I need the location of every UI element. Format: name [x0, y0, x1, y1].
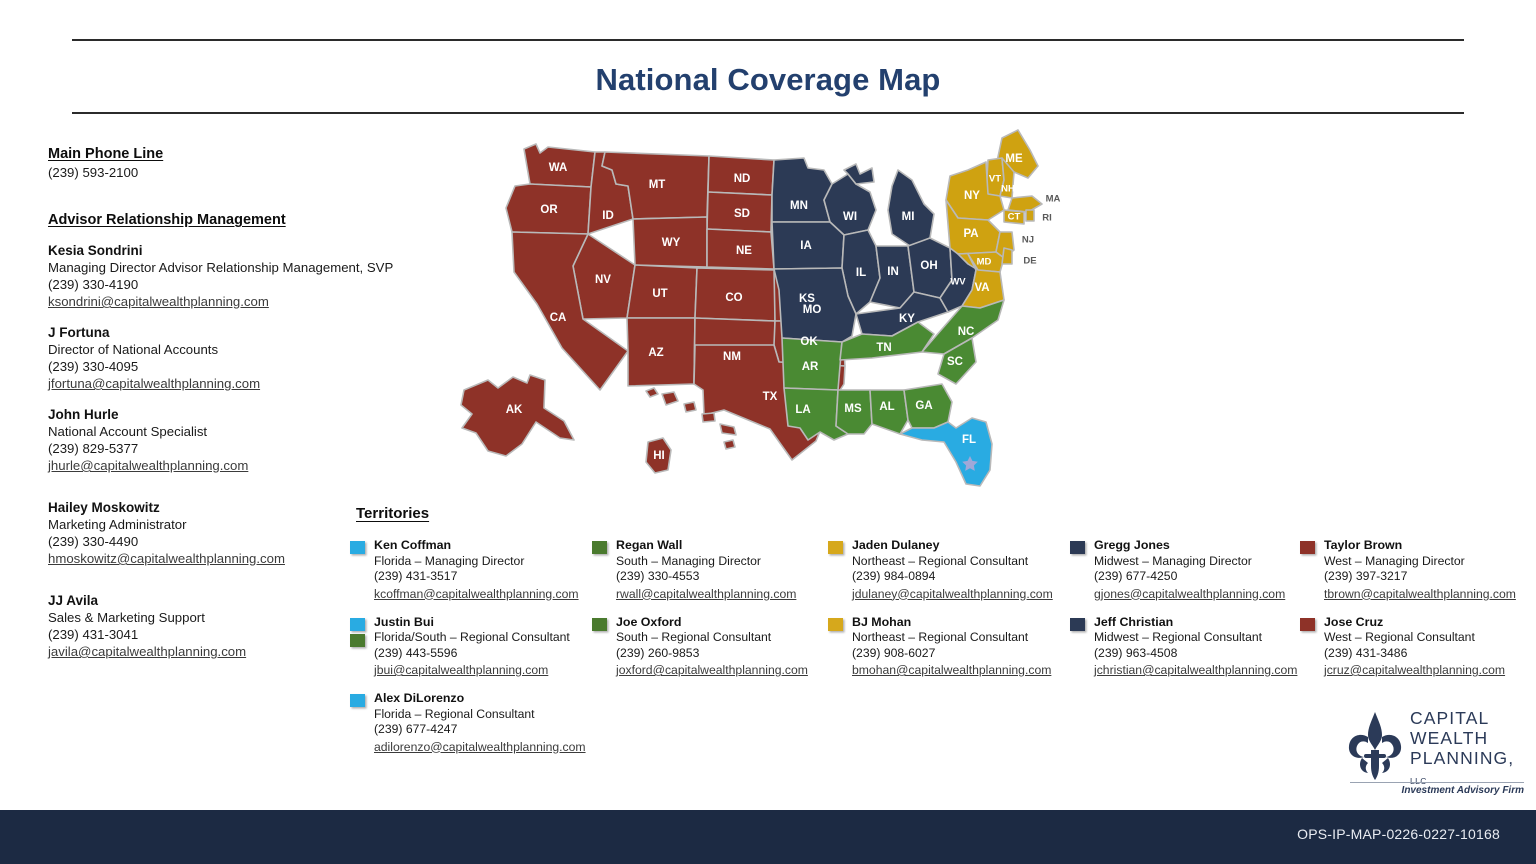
contact-role: Director of National Accounts: [48, 341, 448, 358]
label-MT: MT: [649, 179, 666, 191]
legend-name: Gregg Jones: [1094, 538, 1320, 554]
main-phone-block: Main Phone Line (239) 593-2100: [48, 146, 448, 181]
legend-role: West – Managing Director: [1324, 554, 1536, 570]
label-NC: NC: [958, 326, 975, 338]
legend-item[interactable]: Jaden Dulaney Northeast – Regional Consu…: [828, 538, 1068, 603]
arm-heading: Advisor Relationship Management: [48, 212, 448, 228]
color-swatch: [592, 541, 607, 554]
legend-item[interactable]: Jose Cruz West – Regional Consultant (23…: [1300, 615, 1536, 680]
contact-phone: (239) 829-5377: [48, 440, 448, 457]
color-swatch: [592, 618, 607, 631]
label-VT: VT: [989, 174, 1001, 185]
legend-item[interactable]: Joe Oxford South – Regional Consultant (…: [592, 615, 832, 680]
footer-document-code: OPS-IP-MAP-0226-0227-10168: [1297, 826, 1500, 842]
swatch-stack: [350, 694, 365, 710]
territories-column: Regan Wall South – Managing Director (23…: [592, 538, 832, 691]
label-NM: NM: [723, 351, 741, 363]
swatch-stack: [592, 541, 607, 557]
label-UT: UT: [652, 288, 667, 300]
label-OK: OK: [800, 336, 818, 348]
legend-phone: (239) 431-3486: [1324, 646, 1536, 662]
legend-role: Florida – Regional Consultant: [374, 707, 600, 723]
color-swatch: [828, 541, 843, 554]
label-HI: HI: [653, 450, 665, 462]
contact-name: J Fortuna: [48, 324, 448, 341]
swatch-stack: [1300, 541, 1315, 557]
label-AR: AR: [802, 361, 819, 373]
label-AK: AK: [506, 404, 523, 416]
contact-name: Kesia Sondrini: [48, 242, 448, 259]
swatch-stack: [1300, 618, 1315, 634]
legend-item[interactable]: Taylor Brown West – Managing Director (2…: [1300, 538, 1536, 603]
swatch-stack: [828, 618, 843, 634]
state-FL[interactable]: [900, 418, 992, 486]
label-OH: OH: [920, 260, 937, 272]
territories-heading: Territories: [356, 505, 429, 522]
label-IA: IA: [800, 240, 812, 252]
label-CO: CO: [725, 292, 742, 304]
label-NH: NH: [1001, 184, 1015, 195]
legend-email-link[interactable]: joxford@capitalwealthplanning.com: [616, 663, 808, 679]
legend-email-link[interactable]: jcruz@capitalwealthplanning.com: [1324, 663, 1505, 679]
legend-name: Ken Coffman: [374, 538, 600, 554]
swatch-stack: [592, 618, 607, 634]
contact-email-link[interactable]: hmoskowitz@capitalwealthplanning.com: [48, 550, 285, 567]
legend-email-link[interactable]: gjones@capitalwealthplanning.com: [1094, 587, 1285, 603]
logo-divider: [1350, 782, 1524, 783]
state-DE[interactable]: [1002, 248, 1012, 264]
contact-phone: (239) 330-4095: [48, 358, 448, 375]
legend-role: South – Regional Consultant: [616, 630, 832, 646]
header-divider-bottom: [72, 112, 1464, 114]
logo-line-2: WEALTH: [1410, 728, 1526, 748]
legend-email-link[interactable]: jdulaney@capitalwealthplanning.com: [852, 587, 1053, 603]
legend-phone: (239) 260-9853: [616, 646, 832, 662]
label-CT: CT: [1008, 212, 1021, 223]
legend-email-link[interactable]: tbrown@capitalwealthplanning.com: [1324, 587, 1516, 603]
legend-item[interactable]: BJ Mohan Northeast – Regional Consultant…: [828, 615, 1068, 680]
legend-phone: (239) 397-3217: [1324, 569, 1536, 585]
color-swatch: [350, 634, 365, 647]
label-AZ: AZ: [648, 347, 663, 359]
legend-email-link[interactable]: jchristian@capitalwealthplanning.com: [1094, 663, 1297, 679]
label-AL: AL: [879, 401, 894, 413]
label-SD: SD: [734, 208, 750, 220]
color-swatch: [1300, 541, 1315, 554]
label-MN: MN: [790, 200, 808, 212]
legend-name: Jaden Dulaney: [852, 538, 1068, 554]
label-TX: TX: [763, 391, 778, 403]
label-CA: CA: [550, 312, 567, 324]
label-TN: TN: [876, 342, 891, 354]
us-coverage-map[interactable]: WA OR ID MT ND SD WY NE NV UT CO KS CA A…: [452, 122, 1072, 492]
label-NE: NE: [736, 245, 752, 257]
legend-phone: (239) 963-4508: [1094, 646, 1320, 662]
label-WV: WV: [950, 277, 966, 288]
label-WA: WA: [549, 162, 568, 174]
legend-email-link[interactable]: bmohan@capitalwealthplanning.com: [852, 663, 1051, 679]
legend-role: Florida – Managing Director: [374, 554, 600, 570]
legend-role: Northeast – Regional Consultant: [852, 630, 1068, 646]
contact-card: J Fortuna Director of National Accounts …: [48, 324, 448, 393]
label-FL: FL: [962, 434, 976, 446]
label-ID: ID: [602, 210, 614, 222]
legend-email-link[interactable]: rwall@capitalwealthplanning.com: [616, 587, 796, 603]
contact-card: Kesia Sondrini Managing Director Advisor…: [48, 242, 448, 311]
contact-email-link[interactable]: javila@capitalwealthplanning.com: [48, 643, 246, 660]
label-DE: DE: [1023, 256, 1036, 267]
color-swatch: [1070, 618, 1085, 631]
legend-name: Alex DiLorenzo: [374, 691, 600, 707]
legend-phone: (239) 677-4247: [374, 722, 600, 738]
label-WI: WI: [843, 211, 857, 223]
swatch-stack: [1070, 541, 1085, 557]
legend-name: Taylor Brown: [1324, 538, 1536, 554]
legend-name: Regan Wall: [616, 538, 832, 554]
label-MS: MS: [844, 403, 862, 415]
legend-role: South – Managing Director: [616, 554, 832, 570]
label-IL: IL: [856, 267, 866, 279]
label-GA: GA: [915, 400, 932, 412]
state-MA[interactable]: [1008, 196, 1042, 212]
territories-column: Taylor Brown West – Managing Director (2…: [1300, 538, 1536, 691]
legend-item[interactable]: Jeff Christian Midwest – Regional Consul…: [1070, 615, 1320, 680]
legend-phone: (239) 984-0894: [852, 569, 1068, 585]
company-logo: CAPITAL WEALTH PLANNING, LLC Investment …: [1344, 706, 1524, 798]
swatch-stack: [350, 541, 365, 557]
label-PA: PA: [963, 228, 978, 240]
contact-phone: (239) 330-4190: [48, 276, 448, 293]
header-divider-top: [72, 39, 1464, 41]
logo-tagline: Investment Advisory Firm: [1344, 785, 1524, 796]
legend-item[interactable]: Gregg Jones Midwest – Managing Director …: [1070, 538, 1320, 603]
main-phone-heading: Main Phone Line: [48, 146, 448, 162]
legend-phone: (239) 330-4553: [616, 569, 832, 585]
label-RI: RI: [1042, 213, 1052, 224]
main-phone-number: (239) 593-2100: [48, 164, 448, 181]
spacer: [48, 194, 448, 212]
legend-role: Florida/South – Regional Consultant: [374, 630, 600, 646]
swatch-stack: [1070, 618, 1085, 634]
label-ND: ND: [734, 173, 751, 185]
label-NJ: NJ: [1022, 235, 1034, 246]
contact-email-link[interactable]: ksondrini@capitalwealthplanning.com: [48, 293, 269, 310]
territories-column: Ken Coffman Florida – Managing Director …: [350, 538, 600, 768]
legend-role: Midwest – Managing Director: [1094, 554, 1320, 570]
label-VA: VA: [974, 282, 989, 294]
legend-email-link[interactable]: kcoffman@capitalwealthplanning.com: [374, 587, 579, 603]
legend-phone: (239) 677-4250: [1094, 569, 1320, 585]
contact-email-link[interactable]: jfortuna@capitalwealthplanning.com: [48, 375, 260, 392]
state-RI[interactable]: [1026, 210, 1034, 221]
contact-name: John Hurle: [48, 406, 448, 423]
contact-card: John Hurle National Account Specialist (…: [48, 406, 448, 475]
spacer: [48, 488, 448, 499]
legend-phone: (239) 443-5596: [374, 646, 600, 662]
state-MN[interactable]: [772, 158, 832, 222]
label-NV: NV: [595, 274, 611, 286]
label-IN: IN: [887, 266, 899, 278]
contact-email-link[interactable]: jhurle@capitalwealthplanning.com: [48, 457, 248, 474]
swatch-stack: [828, 541, 843, 557]
color-swatch: [350, 618, 365, 631]
label-MI: MI: [902, 211, 915, 223]
legend-item[interactable]: Justin Bui Florida/South – Regional Cons…: [350, 615, 600, 680]
label-MD: MD: [977, 257, 992, 268]
color-swatch: [828, 618, 843, 631]
fleur-de-lis-icon: [1344, 710, 1406, 782]
label-LA: LA: [795, 404, 810, 416]
label-MO: MO: [803, 304, 822, 316]
legend-email-link[interactable]: adilorenzo@capitalwealthplanning.com: [374, 740, 586, 756]
label-WY: WY: [662, 237, 681, 249]
legend-name: Justin Bui: [374, 615, 600, 631]
contact-role: Managing Director Advisor Relationship M…: [48, 259, 448, 276]
legend-name: Joe Oxford: [616, 615, 832, 631]
slide-root: National Coverage Map Main Phone Line (2…: [0, 0, 1536, 864]
legend-email-link[interactable]: jbui@capitalwealthplanning.com: [374, 663, 548, 679]
legend-phone: (239) 908-6027: [852, 646, 1068, 662]
label-ME: ME: [1005, 153, 1023, 165]
footer-bar: OPS-IP-MAP-0226-0227-10168: [0, 810, 1536, 864]
legend-item[interactable]: Regan Wall South – Managing Director (23…: [592, 538, 832, 603]
legend-item[interactable]: Alex DiLorenzo Florida – Regional Consul…: [350, 691, 600, 756]
legend-name: BJ Mohan: [852, 615, 1068, 631]
color-swatch: [350, 541, 365, 554]
legend-name: Jose Cruz: [1324, 615, 1536, 631]
legend-role: Northeast – Regional Consultant: [852, 554, 1068, 570]
swatch-stack: [350, 618, 365, 650]
map-states: [461, 130, 1042, 486]
color-swatch: [350, 694, 365, 707]
label-MA: MA: [1046, 194, 1061, 205]
color-swatch: [1070, 541, 1085, 554]
territories-column: Gregg Jones Midwest – Managing Director …: [1070, 538, 1320, 691]
label-SC: SC: [947, 356, 963, 368]
label-NY: NY: [964, 190, 980, 202]
contact-role: National Account Specialist: [48, 423, 448, 440]
legend-role: Midwest – Regional Consultant: [1094, 630, 1320, 646]
color-swatch: [1300, 618, 1315, 631]
legend-role: West – Regional Consultant: [1324, 630, 1536, 646]
logo-wordmark: CAPITAL WEALTH PLANNING, LLC: [1410, 708, 1526, 791]
label-OR: OR: [540, 204, 558, 216]
legend-name: Jeff Christian: [1094, 615, 1320, 631]
legend-phone: (239) 431-3517: [374, 569, 600, 585]
page-title: National Coverage Map: [0, 62, 1536, 98]
legend-item[interactable]: Ken Coffman Florida – Managing Director …: [350, 538, 600, 603]
label-KY: KY: [899, 313, 915, 325]
logo-line-1: CAPITAL: [1410, 708, 1526, 728]
territories-column: Jaden Dulaney Northeast – Regional Consu…: [828, 538, 1068, 691]
